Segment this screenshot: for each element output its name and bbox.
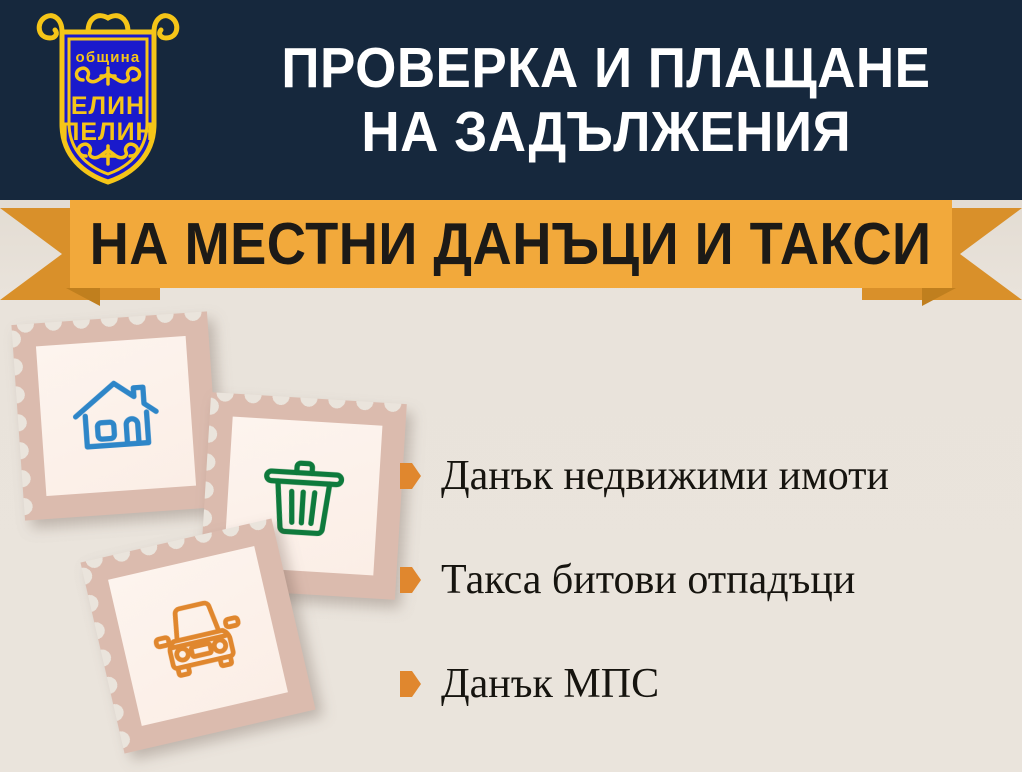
svg-text:ЕЛИН: ЕЛИН	[71, 92, 145, 120]
house-icon	[65, 365, 167, 467]
list-item[interactable]: Данък недвижими имоти	[400, 424, 1022, 528]
svg-text:ПЕЛИН: ПЕЛИН	[61, 118, 154, 146]
list-item[interactable]: Данък МПС	[400, 632, 1022, 736]
list-item-label: Такса битови отпадъци	[441, 557, 855, 603]
list-item-label: Данък недвижими имоти	[441, 453, 889, 499]
list-item-label: Данък МПС	[441, 661, 659, 707]
ribbon-band: НА МЕСТНИ ДАНЪЦИ И ТАКСИ	[70, 200, 952, 288]
svg-text:община: община	[76, 49, 141, 66]
arrow-bullet-icon	[400, 567, 421, 593]
stamp-paper	[36, 336, 196, 496]
header-title-block: ПРОВЕРКА И ПЛАЩАНЕ НА ЗАДЪЛЖЕНИЯ	[190, 0, 1022, 200]
arrow-bullet-icon	[400, 671, 421, 697]
header-banner: община ЕЛИН ПЕЛИН	[0, 0, 1022, 200]
poster-canvas: община ЕЛИН ПЕЛИН	[0, 0, 1022, 772]
ribbon-subtitle: НА МЕСТНИ ДАНЪЦИ И ТАКСИ	[90, 213, 932, 275]
stamp-paper	[108, 546, 288, 726]
page-title-line-1: ПРОВЕРКА И ПЛАЩАНЕ	[281, 37, 930, 99]
subtitle-ribbon: НА МЕСТНИ ДАНЪЦИ И ТАКСИ	[0, 200, 1022, 308]
stamp-card-property	[11, 311, 220, 520]
municipal-coat-of-arms-icon: община ЕЛИН ПЕЛИН	[28, 6, 188, 196]
list-item[interactable]: Такса битови отпадъци	[400, 528, 1022, 632]
page-title-line-2: НА ЗАДЪЛЖЕНИЯ	[361, 101, 851, 163]
arrow-bullet-icon	[400, 463, 421, 489]
tax-type-list: Данък недвижими имоти Такса битови отпад…	[400, 424, 1022, 736]
car-icon	[140, 578, 255, 693]
